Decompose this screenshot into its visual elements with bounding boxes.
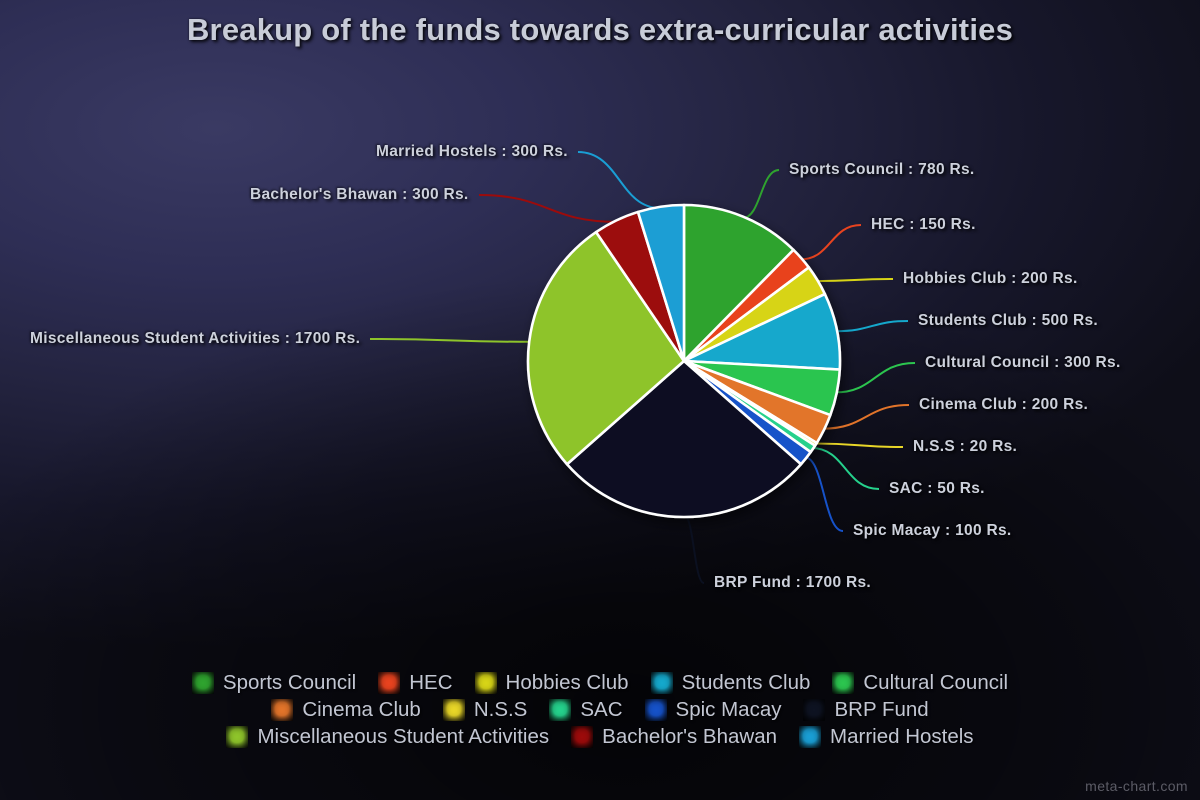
pie-callout-label: Cinema Club : 200 Rs. bbox=[919, 396, 1088, 414]
pie-chart-area: Married Hostels : 300 Rs.Bachelor's Bhaw… bbox=[0, 0, 1200, 660]
legend-item-label: HEC bbox=[409, 673, 452, 694]
legend-item[interactable]: Sports Council bbox=[192, 672, 356, 694]
pie-callout-label: Sports Council : 780 Rs. bbox=[789, 161, 975, 179]
pie-callout-label: Married Hostels : 300 Rs. bbox=[376, 143, 568, 161]
chart-title: Breakup of the funds towards extra-curri… bbox=[0, 12, 1200, 48]
pie-callout-label: Students Club : 500 Rs. bbox=[918, 312, 1098, 330]
legend-item[interactable]: BRP Fund bbox=[803, 699, 928, 721]
legend-color-swatch bbox=[378, 672, 400, 694]
legend-item-label: Bachelor's Bhawan bbox=[602, 727, 777, 748]
callout-leader-line bbox=[578, 152, 661, 208]
pie-callout-label: Cultural Council : 300 Rs. bbox=[925, 354, 1121, 372]
legend-item-label: Spic Macay bbox=[676, 700, 782, 721]
legend-row: Miscellaneous Student ActivitiesBachelor… bbox=[215, 726, 984, 748]
legend-item-label: Miscellaneous Student Activities bbox=[257, 727, 549, 748]
legend-item[interactable]: SAC bbox=[549, 699, 622, 721]
legend-item-label: SAC bbox=[580, 700, 622, 721]
legend-row: Cinema ClubN.S.SSACSpic MacayBRP Fund bbox=[260, 699, 939, 721]
watermark: meta-chart.com bbox=[1085, 778, 1188, 794]
callout-leader-line bbox=[836, 321, 909, 331]
callout-leader-line bbox=[805, 457, 843, 531]
legend-item[interactable]: Cultural Council bbox=[832, 672, 1008, 694]
legend-item-label: N.S.S bbox=[474, 700, 528, 721]
callout-leader-line bbox=[743, 170, 779, 218]
callout-leader-line bbox=[800, 225, 861, 259]
legend-item-label: Sports Council bbox=[223, 673, 356, 694]
pie-callout-label: Hobbies Club : 200 Rs. bbox=[903, 270, 1078, 288]
legend-item[interactable]: Bachelor's Bhawan bbox=[571, 726, 777, 748]
legend-color-swatch bbox=[571, 726, 593, 748]
legend-color-swatch bbox=[443, 699, 465, 721]
legend-color-swatch bbox=[799, 726, 821, 748]
legend-item-label: Married Hostels bbox=[830, 727, 974, 748]
legend-item[interactable]: Miscellaneous Student Activities bbox=[226, 726, 549, 748]
legend-item[interactable]: HEC bbox=[378, 672, 452, 694]
chart-legend: Sports CouncilHECHobbies ClubStudents Cl… bbox=[0, 672, 1200, 748]
legend-color-swatch bbox=[271, 699, 293, 721]
legend-item[interactable]: N.S.S bbox=[443, 699, 528, 721]
legend-color-swatch bbox=[226, 726, 248, 748]
pie-callout-label: HEC : 150 Rs. bbox=[871, 216, 976, 234]
legend-color-swatch bbox=[549, 699, 571, 721]
callout-leader-line bbox=[370, 339, 531, 342]
callout-leader-line bbox=[684, 515, 704, 583]
legend-color-swatch bbox=[192, 672, 214, 694]
pie-slices bbox=[528, 205, 840, 517]
legend-item[interactable]: Students Club bbox=[651, 672, 811, 694]
legend-item-label: BRP Fund bbox=[834, 700, 928, 721]
legend-item-label: Hobbies Club bbox=[506, 673, 629, 694]
callout-leader-line bbox=[815, 444, 903, 448]
callout-leader-line bbox=[835, 363, 915, 392]
legend-item[interactable]: Hobbies Club bbox=[475, 672, 629, 694]
callout-leader-line bbox=[823, 405, 909, 429]
legend-item[interactable]: Cinema Club bbox=[271, 699, 421, 721]
legend-color-swatch bbox=[651, 672, 673, 694]
legend-color-swatch bbox=[475, 672, 497, 694]
pie-callout-label: N.S.S : 20 Rs. bbox=[913, 438, 1017, 456]
legend-color-swatch bbox=[645, 699, 667, 721]
pie-callout-label: Miscellaneous Student Activities : 1700 … bbox=[30, 330, 360, 348]
legend-item-label: Cultural Council bbox=[863, 673, 1008, 694]
callout-leader-line bbox=[479, 195, 617, 222]
legend-item[interactable]: Married Hostels bbox=[799, 726, 974, 748]
legend-item-label: Cinema Club bbox=[302, 700, 421, 721]
pie-callout-label: SAC : 50 Rs. bbox=[889, 480, 985, 498]
pie-callout-label: BRP Fund : 1700 Rs. bbox=[714, 574, 871, 592]
legend-color-swatch bbox=[803, 699, 825, 721]
legend-color-swatch bbox=[832, 672, 854, 694]
legend-item[interactable]: Spic Macay bbox=[645, 699, 782, 721]
legend-item-label: Students Club bbox=[682, 673, 811, 694]
callout-leader-line bbox=[816, 279, 893, 281]
chart-canvas: Breakup of the funds towards extra-curri… bbox=[0, 0, 1200, 800]
pie-callout-label: Spic Macay : 100 Rs. bbox=[853, 522, 1012, 540]
legend-row: Sports CouncilHECHobbies ClubStudents Cl… bbox=[181, 672, 1019, 694]
pie-callout-label: Bachelor's Bhawan : 300 Rs. bbox=[250, 186, 469, 204]
